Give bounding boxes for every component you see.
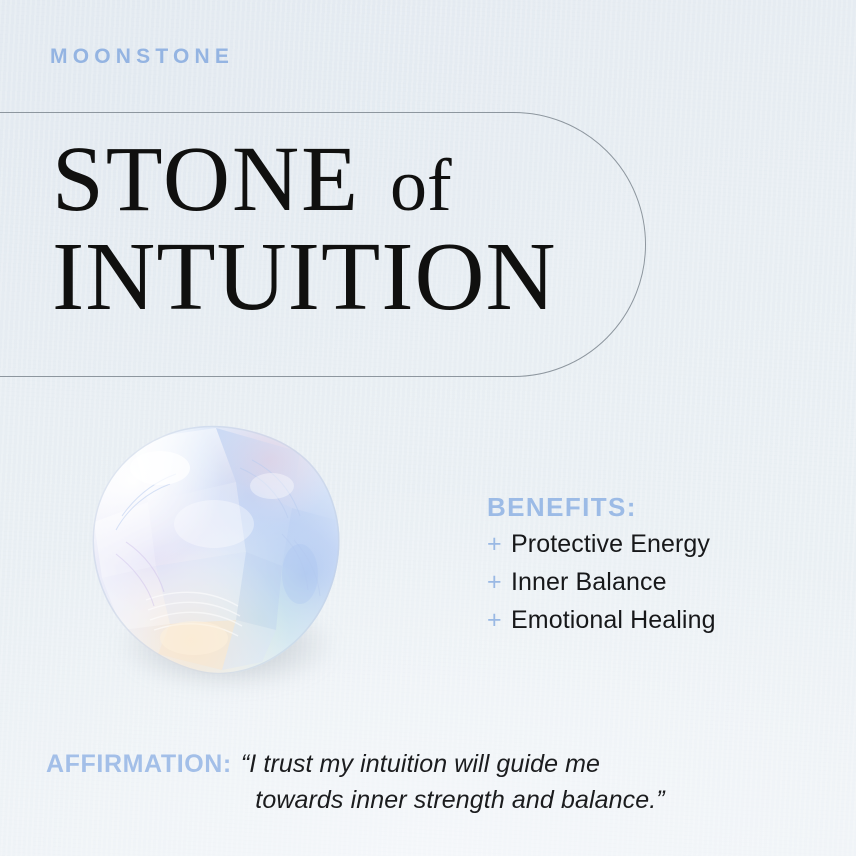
title-line-one: STONEof xyxy=(52,137,652,223)
page-title: STONEof INTUITION xyxy=(52,137,652,323)
benefits-section: BENEFITS: + Protective Energy + Inner Ba… xyxy=(487,494,817,642)
benefit-label: Protective Energy xyxy=(511,532,710,557)
moonstone-image xyxy=(86,424,348,702)
benefit-item-inner-balance: + Inner Balance xyxy=(487,570,817,604)
benefit-item-protective-energy: + Protective Energy xyxy=(487,532,817,566)
affirmation-label: AFFIRMATION: xyxy=(46,752,232,777)
affirmation-quote-line-two: towards inner strength and balance.” xyxy=(46,781,826,817)
benefits-heading: BENEFITS: xyxy=(487,494,817,520)
benefit-label: Inner Balance xyxy=(511,570,667,595)
affirmation-section: AFFIRMATION: “I trust my intuition will … xyxy=(46,748,826,817)
moonstone-crystal-card: MOONSTONE STONEof INTUITION xyxy=(0,0,856,856)
plus-icon: + xyxy=(487,570,511,595)
plus-icon: + xyxy=(487,532,511,557)
title-word-intuition: INTUITION xyxy=(52,232,652,322)
affirmation-first-line: AFFIRMATION: “I trust my intuition will … xyxy=(46,748,826,781)
title-word-of: of xyxy=(360,145,452,227)
moonstone-crystal-icon xyxy=(86,424,348,682)
eyebrow-label: MOONSTONE xyxy=(50,46,234,67)
benefit-label: Emotional Healing xyxy=(511,608,716,633)
affirmation-quote-line-one: “I trust my intuition will guide me xyxy=(232,748,600,781)
title-word-stone: STONE xyxy=(52,128,360,231)
benefit-item-emotional-healing: + Emotional Healing xyxy=(487,608,817,642)
plus-icon: + xyxy=(487,608,511,633)
